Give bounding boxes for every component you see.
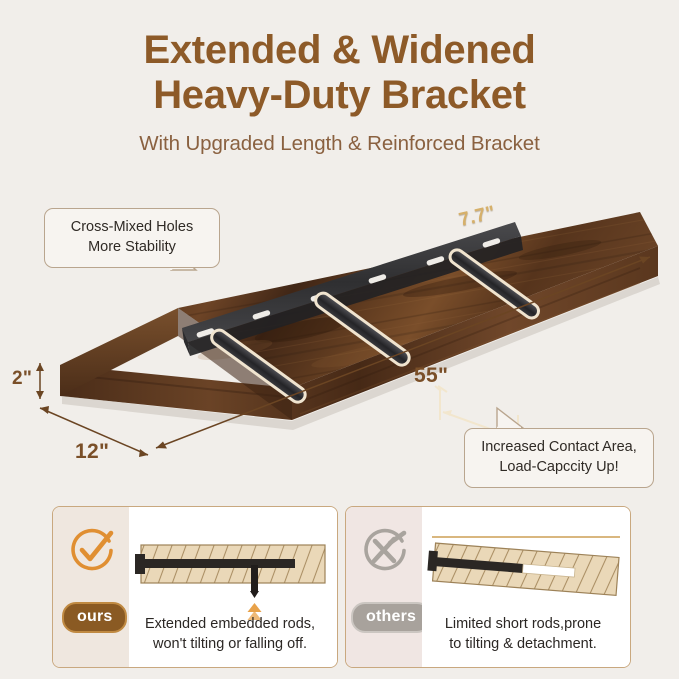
page-subtitle: With Upgraded Length & Reinforced Bracke… (0, 132, 679, 156)
ours-caption-line-1: Extended embedded rods, (129, 614, 331, 634)
ours-diagram-column: Extended embedded rods, won't tilting or… (129, 507, 337, 667)
ours-caption-line-2: won't tilting or falling off. (129, 634, 331, 654)
callout-holes-line-2: More Stability (57, 238, 207, 258)
others-caption: Limited short rods,prone to tilting & de… (422, 614, 624, 654)
title-line-2: Heavy-Duty Bracket (153, 73, 526, 117)
callout-cross-mixed-holes: Cross-Mixed Holes More Stability (44, 208, 220, 268)
callout-contact-line-2: Load-Capccity Up! (477, 458, 641, 478)
comparison-panel-ours: ours (52, 506, 338, 668)
callout-holes-line-1: Cross-Mixed Holes (57, 218, 207, 238)
page-title: Extended & Widened Heavy-Duty Bracket (0, 28, 679, 118)
callout-tail-contact (497, 408, 523, 428)
dimension-label-depth: 12" (75, 440, 109, 464)
others-caption-line-1: Limited short rods,prone (422, 614, 624, 634)
ours-embedded-rod (143, 559, 295, 568)
callout-contact-line-1: Increased Contact Area, (477, 438, 641, 458)
ours-vertical-peg (251, 565, 258, 591)
dimension-label-thickness: 2" (12, 368, 32, 390)
others-icon-column: others (346, 507, 422, 667)
ours-caption: Extended embedded rods, won't tilting or… (129, 614, 331, 654)
title-line-1: Extended & Widened (143, 28, 535, 72)
others-caption-line-2: to tilting & detachment. (422, 634, 624, 654)
hero-product-scene: Cross-Mixed Holes More Stability Increas… (0, 180, 679, 500)
callout-increased-contact-area: Increased Contact Area, Load-Capccity Up… (464, 428, 654, 488)
badge-others: others (351, 602, 431, 633)
dimension-line-thickness (36, 363, 44, 399)
badge-ours: ours (62, 602, 127, 633)
infographic-canvas: Extended & Widened Heavy-Duty Bracket Wi… (0, 0, 679, 679)
ours-icon-column: ours (53, 507, 129, 667)
check-circle-icon (67, 525, 117, 575)
header-block: Extended & Widened Heavy-Duty Bracket Wi… (0, 28, 679, 156)
dimension-label-length: 55" (414, 364, 448, 388)
x-circle-icon (360, 525, 410, 575)
others-diagram-column: Limited short rods,prone to tilting & de… (422, 507, 630, 667)
comparison-panel-others: others (345, 506, 631, 668)
